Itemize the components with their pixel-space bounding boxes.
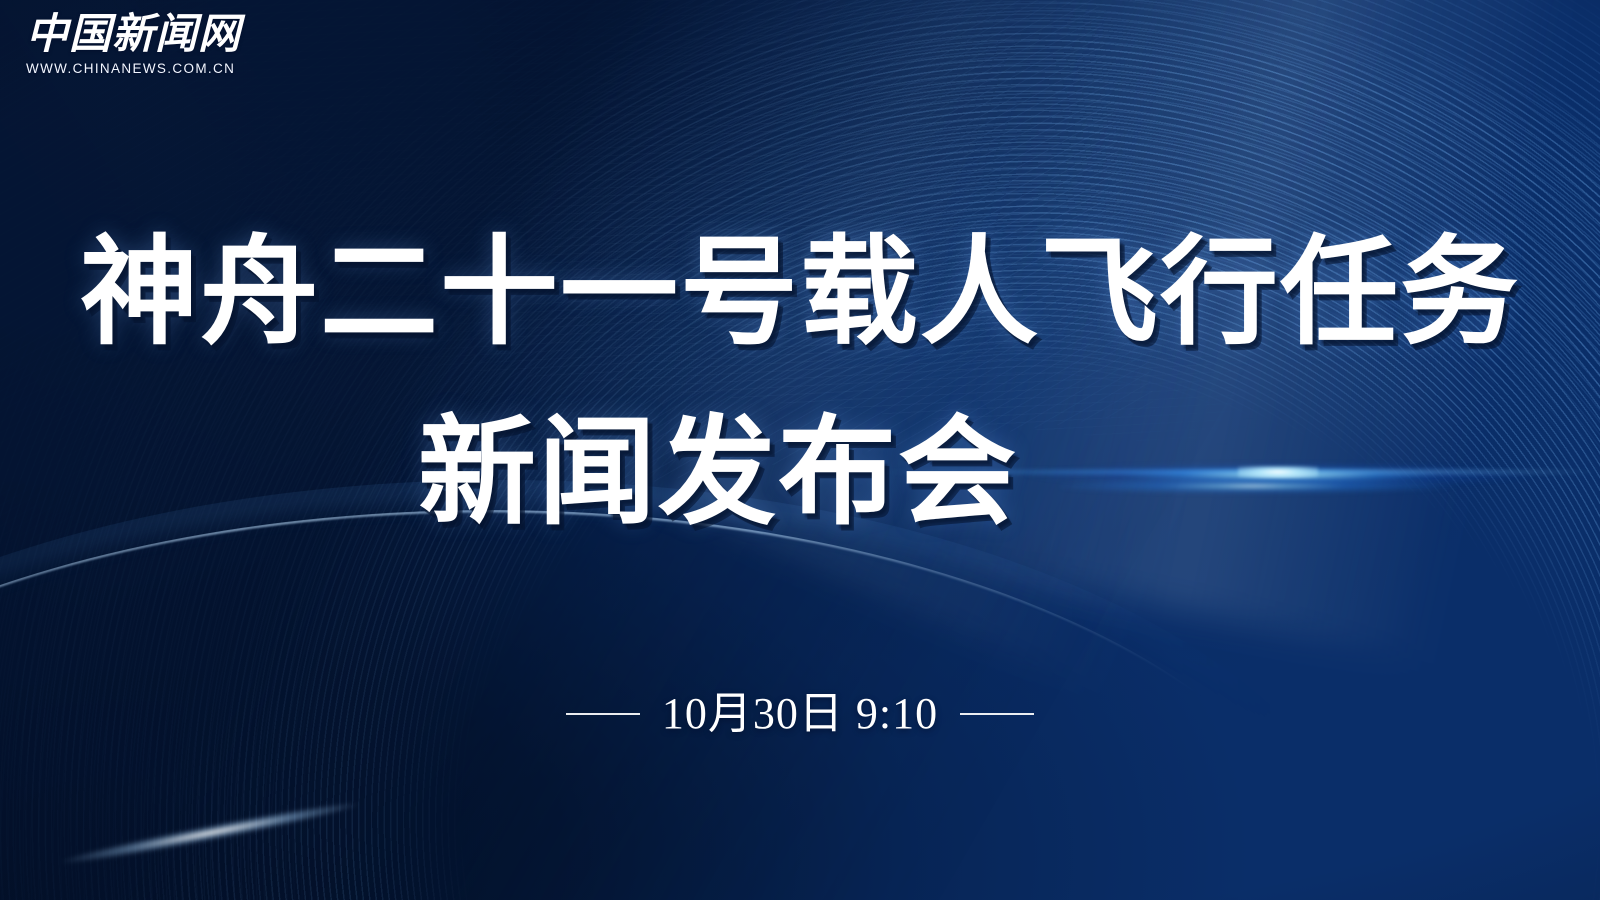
page-title-line-2: 新闻发布会 [0,408,1518,538]
page-title-line-1: 神舟二十一号载人飞行任务 [0,228,1600,358]
schedule-row: 10月30日 9:10 [0,688,1600,740]
logo-url: WWW.CHINANEWS.COM.CN [26,61,236,76]
poster-canvas: 中国新闻网 WWW.CHINANEWS.COM.CN 神舟二十一号载人飞行任务 … [0,0,1600,900]
chinanews-logo[interactable]: 中国新闻网 WWW.CHINANEWS.COM.CN [26,12,236,76]
rule-left-divider [566,713,640,715]
logo-name-cn: 中国新闻网 [26,12,236,58]
schedule-datetime: 10月30日 9:10 [662,688,938,740]
rule-right-divider [960,713,1034,715]
poster-content: 神舟二十一号载人飞行任务 新闻发布会 [0,0,1600,900]
